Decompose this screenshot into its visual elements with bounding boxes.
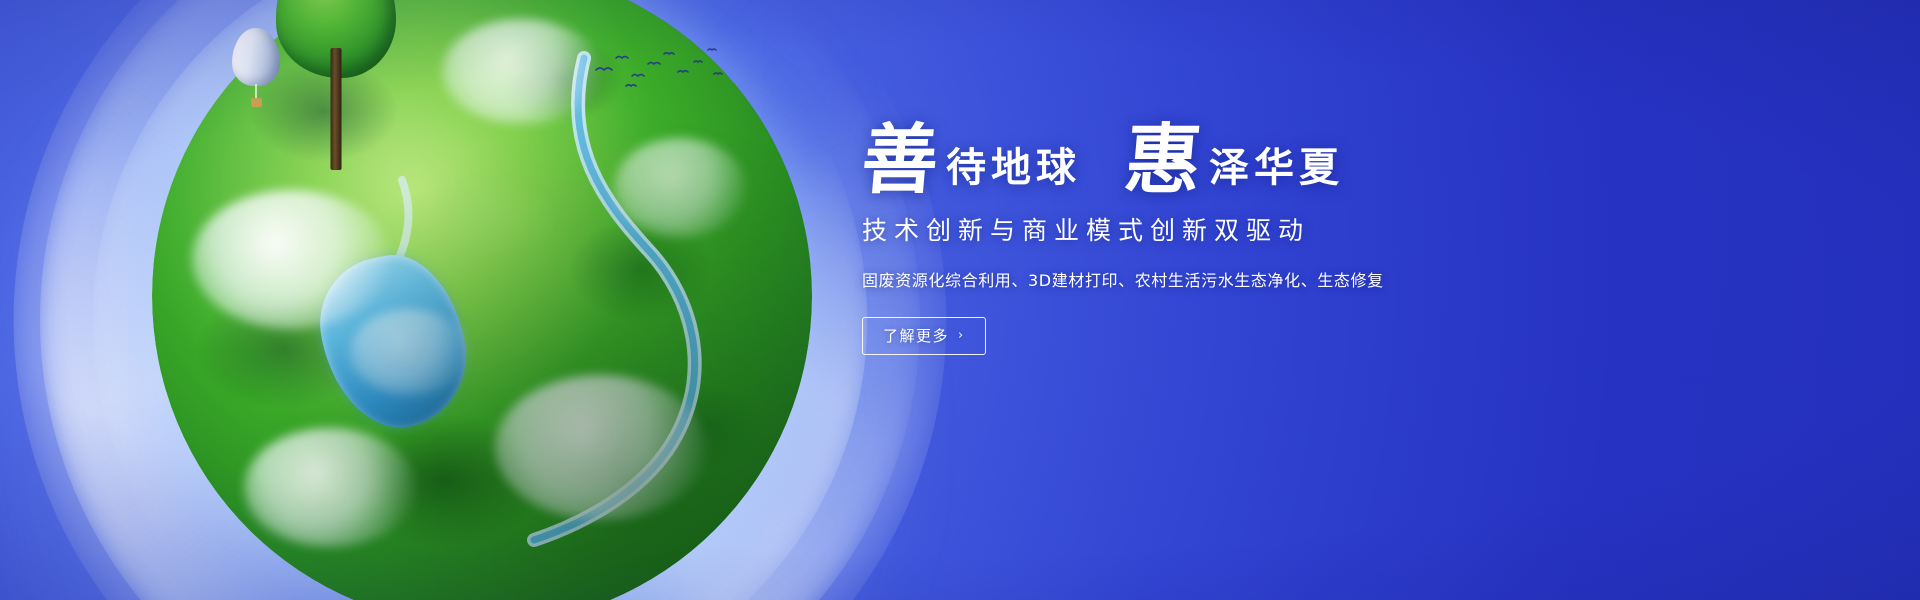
page-title: 善 待地球 惠 泽华夏 [862,124,1562,197]
headline-brush-char-2: 惠 [1122,124,1204,197]
tree [276,0,396,170]
headline-text-1: 待地球 [938,148,1081,197]
headline-brush-char-1: 善 [859,124,941,197]
balloon-rope [255,84,257,99]
hero-content: 善 待地球 惠 泽华夏 技术创新与商业模式创新双驱动 固废资源化综合利用、3D建… [862,124,1562,355]
balloon-basket [251,98,262,107]
tree-trunk [331,48,342,170]
birds-flock-icon [590,40,730,100]
hot-air-balloon-icon [232,28,280,114]
hero-description: 固废资源化综合利用、3D建材打印、农村生活污水生态净化、生态修复 [862,267,1562,291]
balloon-envelope [232,28,280,86]
headline-text-2: 泽华夏 [1201,148,1344,197]
hero-subtitle: 技术创新与商业模式创新双驱动 [862,211,1562,247]
learn-more-button[interactable]: 了解更多 › [862,317,986,355]
learn-more-label: 了解更多 [883,325,949,346]
chevron-right-icon: › [958,329,965,342]
hero-banner: 善 待地球 惠 泽华夏 技术创新与商业模式创新双驱动 固废资源化综合利用、3D建… [0,0,1920,600]
